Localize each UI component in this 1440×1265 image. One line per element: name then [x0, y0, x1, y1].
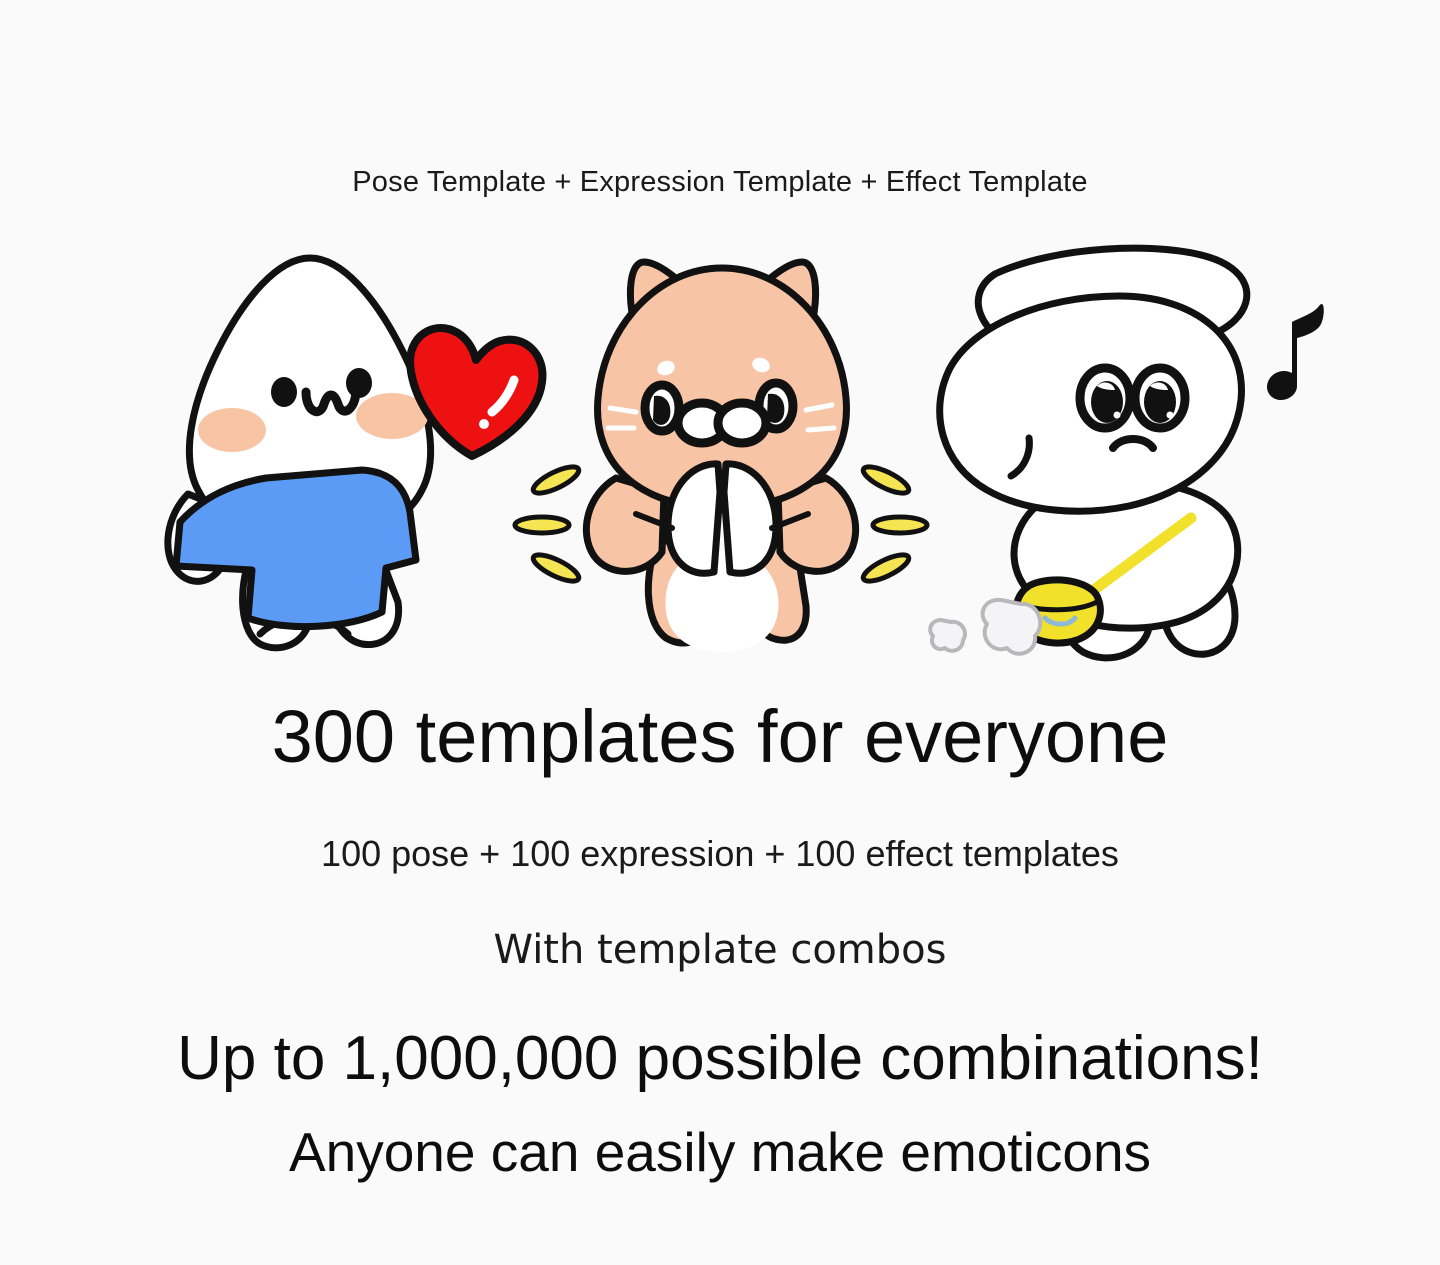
subline-easy-emoticons: Anyone can easily make emoticons: [0, 1125, 1440, 1180]
music-note-icon: [1267, 304, 1324, 400]
sparkle-lines-left: [515, 462, 582, 586]
character-peach-cat: [520, 240, 920, 670]
heart-highlight-dot: [479, 419, 489, 429]
header-caption: Pose Template + Expression Template + Ef…: [0, 166, 1440, 199]
character-row: [0, 240, 1440, 670]
headline: 300 templates for everyone: [0, 700, 1440, 774]
subline-template-counts: 100 pose + 100 expression + 100 effect t…: [0, 836, 1440, 872]
white-blob-illustration: [110, 240, 510, 670]
white-bunny-illustration: [905, 240, 1365, 670]
promo-page: Pose Template + Expression Template + Ef…: [0, 0, 1440, 1265]
subline-template-combos: With template combos: [0, 930, 1440, 970]
dust-puffs: [930, 600, 1040, 654]
peach-cat-illustration: [520, 240, 920, 670]
character-white-blob-with-heart: [110, 240, 510, 670]
subline-combinations: Up to 1,000,000 possible combinations!: [0, 1028, 1440, 1090]
cat-nose-mouth: [678, 403, 766, 443]
blob-left-cheek: [198, 408, 266, 452]
character-white-bunny: [905, 240, 1365, 670]
blob-shirt: [176, 470, 416, 627]
blob-left-eye: [271, 377, 297, 407]
